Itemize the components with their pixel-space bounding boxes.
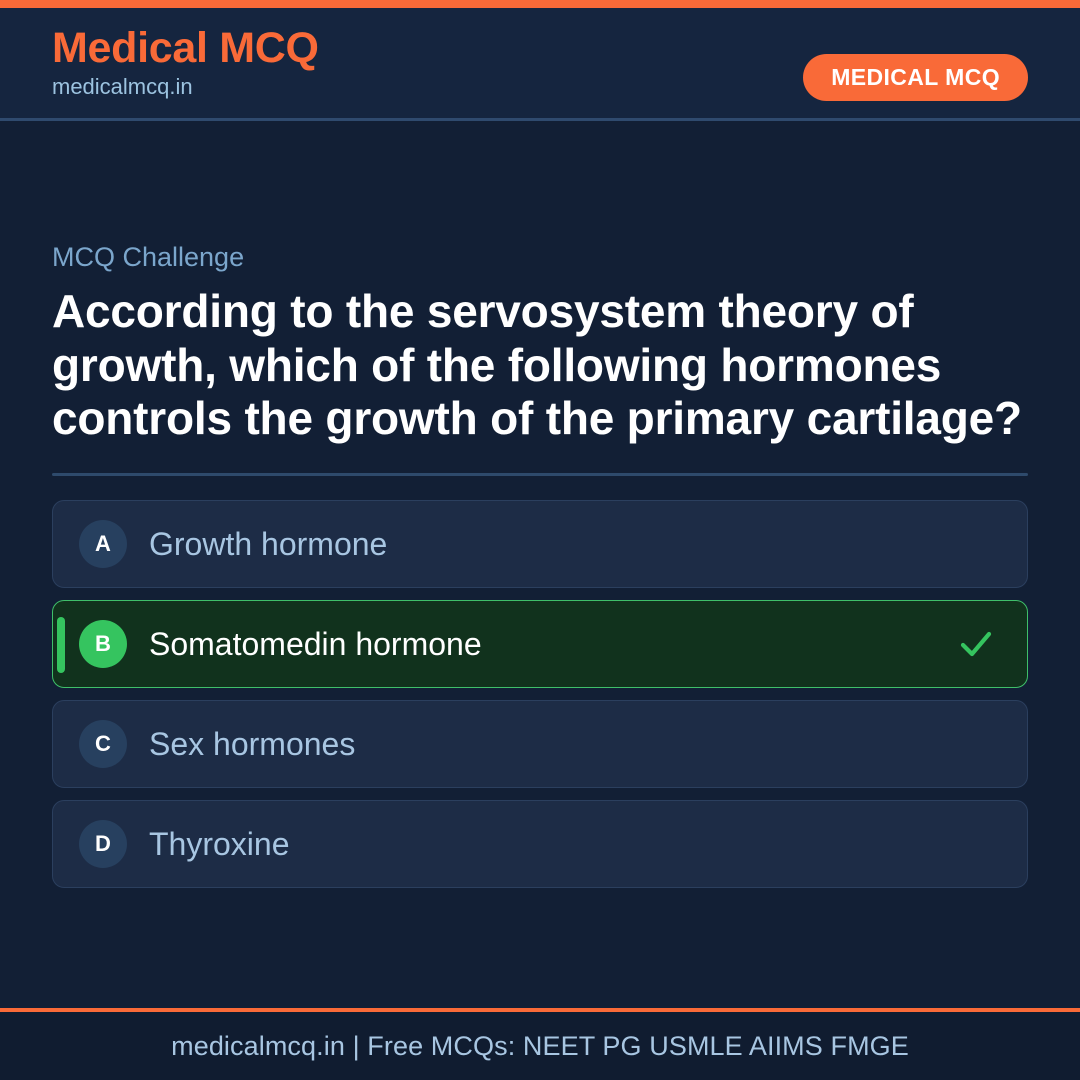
- main-content: MCQ Challenge According to the servosyst…: [0, 121, 1080, 1008]
- header: Medical MCQ medicalmcq.in MEDICAL MCQ: [0, 8, 1080, 121]
- footer: medicalmcq.in | Free MCQs: NEET PG USMLE…: [0, 1008, 1080, 1080]
- eyebrow-label: MCQ Challenge: [52, 241, 1028, 273]
- question-text: According to the servosystem theory of g…: [52, 285, 1028, 445]
- brand-block: Medical MCQ medicalmcq.in: [52, 26, 319, 99]
- option-d-letter: D: [79, 820, 127, 868]
- check-icon: [957, 625, 995, 663]
- options-list: A Growth hormone B Somatomedin hormone C…: [52, 500, 1028, 888]
- option-b-text: Somatomedin hormone: [149, 627, 482, 662]
- option-a-text: Growth hormone: [149, 527, 387, 562]
- header-badge: MEDICAL MCQ: [803, 54, 1028, 101]
- footer-text: medicalmcq.in | Free MCQs: NEET PG USMLE…: [171, 1031, 909, 1062]
- option-c-letter: C: [79, 720, 127, 768]
- option-a-letter: A: [79, 520, 127, 568]
- option-a[interactable]: A Growth hormone: [52, 500, 1028, 588]
- option-b-letter: B: [79, 620, 127, 668]
- brand-title: Medical MCQ: [52, 26, 319, 71]
- brand-url: medicalmcq.in: [52, 75, 319, 99]
- option-d-text: Thyroxine: [149, 827, 290, 862]
- divider: [52, 473, 1028, 476]
- option-b[interactable]: B Somatomedin hormone: [52, 600, 1028, 688]
- top-accent-bar: [0, 0, 1080, 8]
- option-c-text: Sex hormones: [149, 727, 355, 762]
- correct-accent-bar: [57, 617, 65, 673]
- option-d[interactable]: D Thyroxine: [52, 800, 1028, 888]
- option-c[interactable]: C Sex hormones: [52, 700, 1028, 788]
- mcq-card: Medical MCQ medicalmcq.in MEDICAL MCQ MC…: [0, 0, 1080, 1080]
